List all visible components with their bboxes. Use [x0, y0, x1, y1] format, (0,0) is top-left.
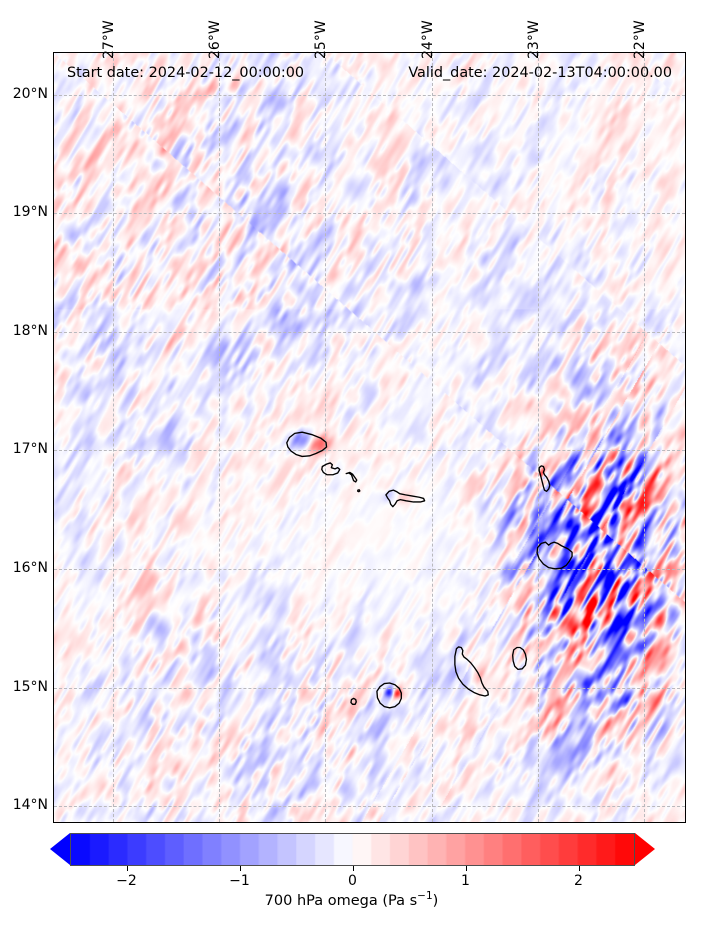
colorbar-gradient: [71, 834, 634, 865]
colorbar-tick-1: [240, 866, 241, 871]
colorbar[interactable]: −2−1012: [70, 833, 635, 866]
colorbar-ticklabel-4: 2: [574, 873, 583, 889]
x-ticklabel-2: 25°W: [313, 20, 329, 59]
coastline-fogo: [377, 683, 401, 708]
coastline-sao-vicente: [322, 463, 340, 475]
coastline-maio: [513, 647, 527, 669]
x-ticklabel-5: 22°W: [632, 20, 648, 59]
colorbar-tick-3: [466, 866, 467, 871]
colorbar-extend-low-arrow: [50, 833, 70, 865]
colorbar-ticklabel-2: 0: [348, 873, 357, 889]
x-ticklabel-3: 24°W: [420, 20, 436, 59]
coastline-santa-luzia: [346, 472, 357, 481]
colorbar-title-tail: ): [433, 893, 439, 909]
colorbar-tick-2: [353, 866, 354, 871]
coastline-brava: [351, 698, 356, 704]
colorbar-tick-4: [579, 866, 580, 871]
y-ticklabel-5: 15°N: [0, 679, 48, 695]
figure-canvas: Start date: 2024-02-12_00:00:00 Valid_da…: [0, 0, 703, 936]
coastline-sao-nicolau: [386, 490, 425, 507]
colorbar-ticklabel-0: −2: [116, 873, 137, 889]
coastline-santo-antao: [287, 432, 327, 456]
map-axes[interactable]: Start date: 2024-02-12_00:00:00 Valid_da…: [53, 52, 686, 823]
y-ticklabel-4: 16°N: [0, 560, 48, 576]
x-ticklabel-0: 27°W: [101, 20, 117, 59]
x-ticklabel-4: 23°W: [526, 20, 542, 59]
coastline-santiago: [455, 647, 488, 696]
x-ticklabel-1: 26°W: [207, 20, 223, 59]
colorbar-extend-high-arrow: [635, 833, 655, 865]
colorbar-title-exponent: −1: [417, 890, 432, 902]
y-ticklabel-0: 20°N: [0, 86, 48, 102]
y-ticklabel-2: 18°N: [0, 323, 48, 339]
coastline-branco: [358, 490, 360, 492]
colorbar-body: [70, 833, 635, 866]
colorbar-title: 700 hPa omega (Pa s−1): [0, 890, 703, 909]
colorbar-ticklabel-3: 1: [461, 873, 470, 889]
colorbar-ticklabel-1: −1: [229, 873, 250, 889]
y-ticklabel-1: 19°N: [0, 204, 48, 220]
coastline-overlay: [54, 53, 685, 822]
y-ticklabel-6: 14°N: [0, 797, 48, 813]
colorbar-title-main: 700 hPa omega (Pa s: [265, 893, 417, 909]
y-ticklabel-3: 17°N: [0, 441, 48, 457]
coastline-sal: [539, 466, 550, 491]
coastline-boa-vista: [537, 542, 572, 569]
colorbar-tick-0: [127, 866, 128, 871]
